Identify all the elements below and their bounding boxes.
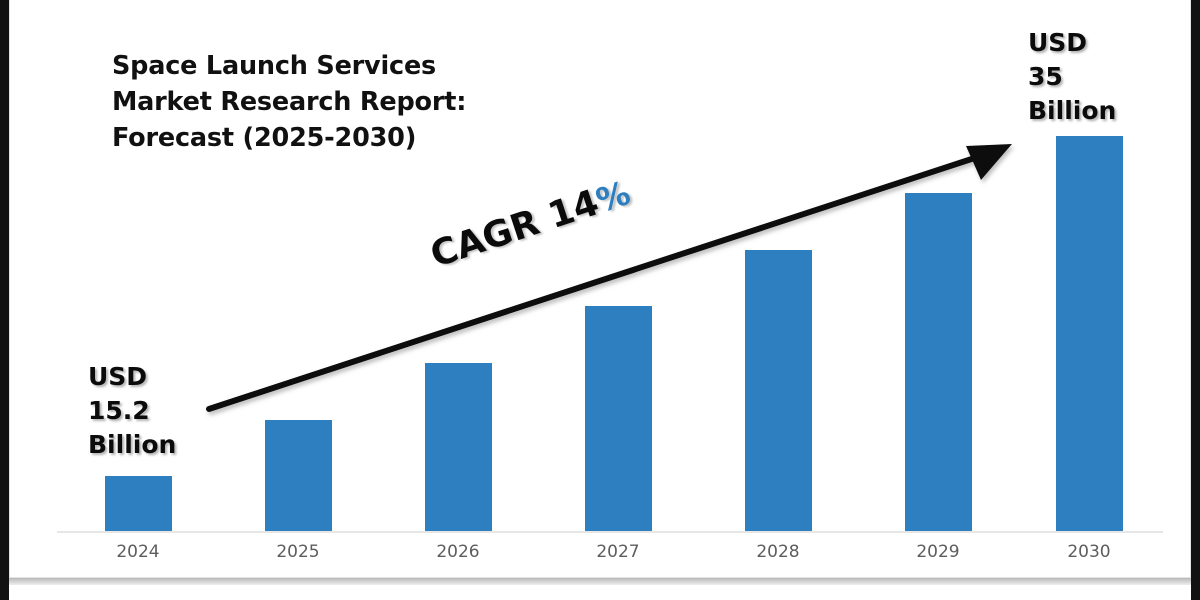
page-bottom-strip [9,578,1191,600]
x-tick-2028: 2028 [698,542,858,562]
value-callout-first: USD 15.2 Billion [88,360,176,462]
x-tick-2029: 2029 [858,542,1018,562]
bar-2024[interactable] [105,476,172,531]
bar-chart: Space Launch Services Market Research Re… [0,0,1200,600]
bar-2028[interactable] [745,250,812,531]
bar-2026[interactable] [425,363,492,531]
x-tick-2024: 2024 [58,542,218,562]
bar-2025[interactable] [265,420,332,531]
x-tick-2027: 2027 [538,542,698,562]
value-callout-last: USD 35 Billion [1028,26,1116,128]
bar-2029[interactable] [905,193,972,531]
chart-page: Space Launch Services Market Research Re… [0,0,1200,600]
x-tick-2030: 2030 [1009,542,1169,562]
growth-arrow-head [966,144,1012,180]
x-axis-line [57,531,1163,533]
x-tick-2026: 2026 [378,542,538,562]
bar-2027[interactable] [585,306,652,531]
bar-2030[interactable] [1056,136,1123,531]
x-tick-2025: 2025 [218,542,378,562]
